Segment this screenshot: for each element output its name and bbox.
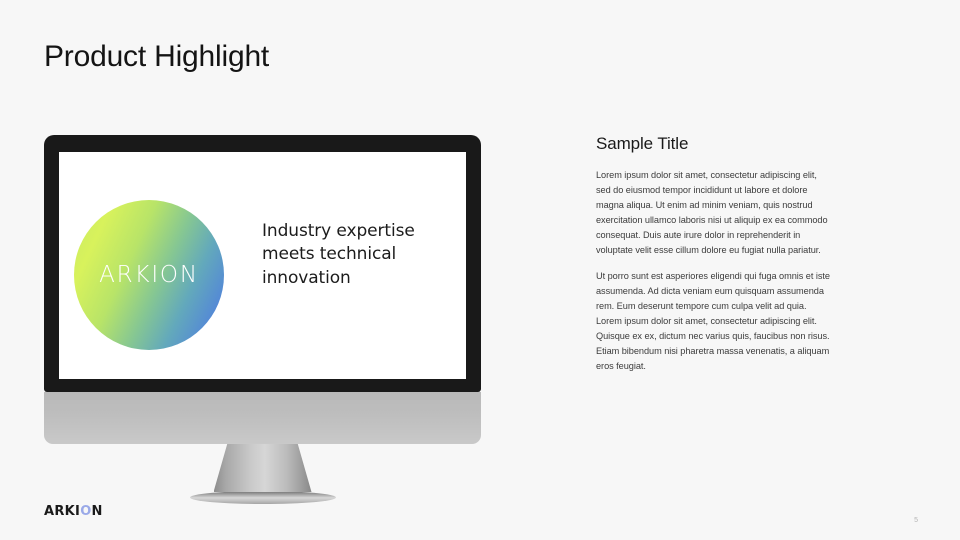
footer-logo-prefix: ARKI [44, 504, 80, 519]
page-number: 5 [914, 517, 918, 524]
monitor-chin [44, 392, 481, 444]
page-title: Product Highlight [44, 40, 269, 74]
body-paragraph-2: Ut porro sunt est asperiores eligendi qu… [596, 269, 830, 373]
monitor-stand-neck [214, 444, 312, 492]
monitor-bezel: ARKION Industry expertise meets technica… [44, 135, 481, 392]
footer-logo-suffix: N [92, 504, 103, 519]
brand-logo-text: ARKION [99, 262, 199, 288]
text-column: Sample Title Lorem ipsum dolor sit amet,… [596, 134, 830, 374]
screen-headline: Industry expertise meets technical innov… [262, 220, 447, 290]
body-paragraph-1: Lorem ipsum dolor sit amet, consectetur … [596, 168, 830, 257]
brand-logo-circle: ARKION [74, 200, 224, 350]
monitor-illustration: ARKION Industry expertise meets technica… [44, 135, 481, 504]
section-heading: Sample Title [596, 134, 830, 154]
footer-logo-accent-letter: O [80, 504, 91, 519]
monitor-stand-base [190, 491, 336, 504]
monitor-screen: ARKION Industry expertise meets technica… [59, 152, 466, 379]
footer-brand-logo: ARKION [44, 504, 103, 519]
